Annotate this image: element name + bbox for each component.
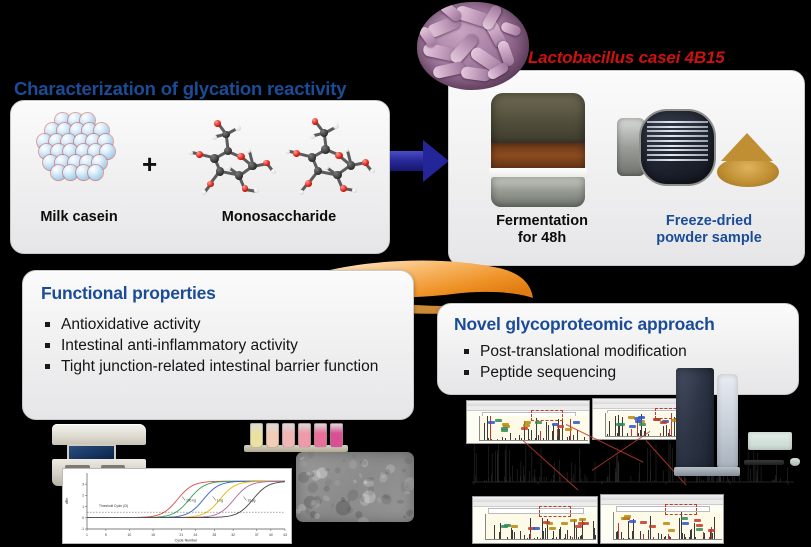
spectrum-peak (682, 533, 683, 539)
spectrum-peak (531, 430, 532, 440)
spectrum-peak (595, 535, 596, 539)
spectrum-peak (546, 422, 547, 439)
spectrum-peak (559, 429, 560, 439)
ion-annotation-label (682, 522, 689, 525)
heading-characterization: Characterization of glycation reactivity (14, 78, 346, 100)
atom-carbon (224, 147, 233, 156)
ion-annotation-label (629, 520, 636, 523)
atom-hydrogen (299, 190, 304, 195)
spectrum-peak (578, 537, 579, 540)
atom-hydrogen (324, 165, 329, 170)
spectrum-peak (553, 531, 554, 539)
spectrum-peak (552, 538, 553, 539)
qpcr-chart-svg: 15101521242832374043-10123Threshold Cycl… (63, 469, 291, 543)
heading-strain-name: Lactobacillus casei 4B15 (528, 48, 724, 68)
bullet-square-icon (464, 349, 469, 354)
label-fermentation-l1: Fermentation (496, 213, 588, 229)
ion-annotation-label (521, 427, 528, 430)
ion-annotation-label (579, 518, 586, 521)
jar-headspace (491, 93, 585, 145)
ion-annotation-label (578, 522, 585, 525)
x-tick-label: 24 (194, 533, 198, 537)
casein-micelle-icon (33, 111, 125, 199)
spectrum-peak (669, 536, 670, 539)
list-item: Antioxidative activity (45, 315, 397, 335)
bacteria-sem-icon (417, 2, 529, 90)
atom-carbon (222, 131, 230, 139)
spectrum-peak (520, 531, 521, 540)
micrograph-feature (349, 460, 358, 470)
spectrum-peak (553, 424, 554, 439)
spectrum-peak (660, 433, 661, 435)
bullet-square-icon (464, 370, 469, 375)
atom-oxygen (362, 159, 369, 166)
ion-annotation-label (575, 525, 582, 528)
list-item: Tight junction-related intestinal barrie… (45, 357, 397, 377)
micrograph-feature (405, 509, 414, 518)
spectrum-window-toolbar (467, 406, 589, 411)
list-item-label: Tight junction-related intestinal barrie… (61, 357, 397, 377)
micrograph-feature (322, 495, 331, 503)
freeze-dryer-icon (617, 109, 725, 187)
assay-tube (314, 423, 327, 448)
label-fermentation: Fermentation for 48h (467, 213, 617, 247)
spectrum-peak (619, 425, 620, 435)
ion-annotation-label (535, 421, 542, 424)
atom-carbon (308, 153, 317, 162)
ion-annotation-label (708, 529, 715, 532)
label-freeze-dried: Freeze-dried powder sample (625, 213, 793, 247)
micrograph-feature (299, 460, 307, 467)
atom-carbon (320, 129, 328, 137)
assay-tube (298, 423, 311, 448)
glycoproteomic-title: Novel glycoproteomic approach (454, 314, 715, 335)
ion-annotation-label (495, 419, 502, 422)
micrograph-feature (305, 480, 319, 494)
spectrum-peak (650, 538, 651, 539)
x-tick-label: 40 (269, 533, 273, 537)
ion-annotation-label (635, 420, 642, 423)
spectrum-peak (663, 426, 664, 436)
ms-instrument-base (674, 467, 741, 476)
spectrum-peak (584, 437, 585, 440)
ion-annotation-label (561, 522, 568, 525)
spectrum-peak (690, 538, 691, 539)
curve-annotation-label: 10 pg (247, 499, 255, 503)
functional-properties-panel: Functional properties Antioxidative acti… (22, 270, 414, 420)
ion-annotation-label (557, 425, 564, 428)
atom-oxygen (237, 153, 245, 161)
assay-tube (330, 423, 343, 448)
spectrum-peak (484, 432, 485, 440)
x-tick-label: 32 (231, 533, 235, 537)
bullet-square-icon (45, 343, 50, 348)
ion-annotation-label (663, 522, 670, 525)
ion-annotation-label (628, 416, 635, 419)
x-tick-label: 21 (179, 533, 183, 537)
list-item: Intestinal anti-inflammatory activity (45, 336, 397, 356)
label-fermentation-l2: for 48h (518, 230, 566, 246)
spectrum-peak (685, 537, 686, 539)
assay-tube-rack-icon (244, 418, 348, 452)
spectrum-peak (623, 538, 624, 540)
mass-spectra-screenshots-3 (472, 496, 598, 544)
spectrum-peak (567, 530, 568, 540)
spectrum-peak (638, 433, 639, 436)
dryer-shelf (647, 159, 709, 161)
spectrum-peak (529, 439, 530, 440)
spectrum-plot-area (613, 512, 721, 540)
atom-hydrogen (333, 123, 339, 129)
ion-annotation-label (533, 527, 540, 530)
powder-pile-icon (717, 157, 779, 187)
spectrum-peak (694, 523, 695, 540)
reaction-panel: + Milk casein Monosaccharide (10, 100, 390, 254)
spectrum-peak (535, 438, 536, 439)
micrograph-feature (352, 479, 357, 484)
atom-carbon (216, 167, 225, 176)
spectrum-peak (540, 431, 541, 439)
x-axis-title: Cycle Number (175, 539, 199, 543)
spectrum-peak (545, 528, 546, 540)
spectrum-peak (576, 528, 577, 539)
mass-spectrometer-icon (676, 368, 738, 470)
list-item-label: Intestinal anti-inflammatory activity (61, 336, 397, 356)
spectrum-peak (665, 536, 666, 539)
spectrum-peak (669, 429, 670, 436)
chart-background (63, 469, 291, 543)
spectrum-peak (491, 439, 492, 440)
ion-annotation-label (668, 529, 675, 532)
micrograph-feature (384, 468, 391, 475)
spectrum-peak (618, 523, 619, 540)
micrograph-feature (358, 472, 363, 478)
spectrum-peak (648, 530, 649, 539)
dryer-shelf (647, 130, 709, 132)
mass-spectra-screenshots (466, 400, 590, 444)
spectrum-peak (627, 433, 628, 436)
atom-hydrogen (352, 188, 357, 193)
spectrum-peak (565, 534, 566, 539)
atom-hydrogen (310, 134, 315, 139)
micrograph-feature (361, 459, 368, 468)
ms-workstation-keyboard (748, 432, 792, 450)
spectrum-peak (622, 417, 623, 436)
spectrum-peak (594, 528, 595, 539)
spectrum-peak (488, 438, 489, 439)
ion-annotation-label (501, 525, 508, 528)
spectrum-peak (574, 519, 575, 539)
ion-annotation-label (543, 521, 550, 524)
y-tick-label: 3 (82, 482, 84, 486)
spectrum-peak (648, 434, 649, 435)
functional-properties-title: Functional properties (41, 283, 216, 304)
micrograph-feature (324, 468, 330, 472)
spectrum-peak (537, 537, 538, 539)
ion-annotation-label (638, 416, 645, 419)
y-tick-label: 0 (82, 516, 84, 520)
dryer-shelf (647, 145, 709, 147)
atom-carbon (347, 161, 356, 170)
assay-tube (282, 423, 295, 448)
casein-subunit (88, 165, 103, 180)
spectrum-peak (524, 535, 525, 539)
x-tick-label: 15 (151, 533, 155, 537)
x-tick-label: 10 (128, 533, 132, 537)
spectrum-peak (558, 419, 559, 440)
spectrum-peak (499, 532, 500, 540)
ion-annotation-label (696, 528, 703, 531)
y-axis-title: dRn (65, 498, 69, 505)
x-tick-label: 28 (212, 533, 216, 537)
spectrum-peak (497, 439, 498, 440)
micrograph-feature (341, 458, 346, 463)
spectrum-peak (661, 534, 662, 539)
label-milk-casein: Milk casein (19, 209, 139, 226)
micrograph-feature (404, 491, 410, 495)
spectrum-plot-area (485, 514, 595, 541)
label-monosaccharide: Monosaccharide (179, 209, 379, 226)
ion-annotation-label (488, 421, 495, 424)
spectrum-peak (494, 525, 495, 539)
atom-carbon (248, 162, 257, 171)
micrograph-feature (352, 454, 357, 459)
x-tick-label: 1 (86, 533, 88, 537)
atom-hydrogen (285, 149, 290, 154)
spectrum-peak (556, 537, 557, 539)
spectrum-peak (643, 534, 644, 539)
list-item: Post-translational modification (464, 342, 784, 362)
micrograph-feature (360, 494, 370, 506)
spectrum-peak (490, 416, 491, 440)
ms-instrument-side-panel (717, 374, 738, 468)
atom-oxygen (340, 185, 347, 192)
powder-pile-peak (721, 133, 773, 161)
atom-oxygen (196, 151, 203, 158)
dryer-shelf (647, 140, 709, 142)
highlight-box (665, 504, 697, 515)
spectrum-peak (510, 433, 511, 440)
atom-oxygen (214, 120, 221, 127)
dryer-shelf (647, 126, 709, 128)
dryer-chamber (641, 111, 714, 184)
ion-annotation-label (629, 425, 636, 428)
micrograph-feature (376, 497, 382, 503)
micrograph-feature (334, 467, 342, 474)
spectrum-peak (548, 425, 549, 439)
micrograph-feature (334, 479, 341, 486)
x-tick-label: 37 (255, 533, 259, 537)
spectrum-peak (616, 532, 617, 539)
spectrum-peak (538, 435, 539, 440)
jar-liquid (491, 143, 585, 170)
y-tick-label: 2 (82, 494, 84, 498)
micrograph-feature (306, 452, 315, 460)
ion-annotation-label (694, 519, 701, 522)
bullet-square-icon (45, 364, 50, 369)
y-tick-label: 1 (82, 505, 84, 509)
label-freeze-dried-l2: powder sample (656, 230, 762, 246)
pcr-lid (52, 424, 146, 445)
qpcr-amplification-chart: 15101521242832374043-10123Threshold Cycl… (62, 468, 292, 544)
list-item-label: Peptide sequencing (480, 363, 784, 383)
monosaccharide-molecule-icon-2 (283, 107, 379, 201)
micrograph-feature (313, 512, 321, 520)
ion-annotation-label (511, 525, 518, 528)
spectrum-peak (570, 536, 571, 539)
spectrum-peak (515, 438, 516, 440)
atom-hydrogen (235, 125, 241, 131)
atom-hydrogen (370, 169, 375, 174)
spectrum-peak (653, 537, 654, 539)
ion-annotation-label (639, 423, 646, 426)
micrograph-feature (345, 506, 355, 516)
x-tick-label: 5 (105, 533, 107, 537)
micrograph-feature (368, 485, 374, 496)
x-tick-label: 43 (283, 533, 287, 537)
ms-workstation-mouse (790, 458, 800, 466)
spectrum-peak (528, 429, 529, 439)
spectrum-peak (560, 527, 561, 539)
spectrum-peak (502, 437, 503, 439)
arrow-body (390, 151, 426, 171)
ion-annotation-label (660, 421, 667, 424)
spectrum-peak (609, 421, 610, 435)
atom-hydrogen (212, 135, 217, 140)
spectrum-peak (703, 537, 704, 539)
spectrum-peak (581, 535, 582, 539)
spectrum-peak (714, 517, 715, 539)
ion-annotation-label (565, 428, 572, 431)
ms-instrument-body (676, 368, 714, 470)
micrograph-feature (397, 500, 404, 504)
spectrum-peak (695, 537, 696, 539)
arrow-head (423, 140, 449, 182)
spectrum-peak (631, 429, 632, 436)
ion-annotation-label (621, 517, 628, 520)
atom-carbon (314, 167, 323, 176)
y-tick-label: -1 (81, 527, 84, 531)
atom-hydrogen (202, 190, 207, 195)
spectrum-peak (640, 531, 641, 539)
micrograph-feature (323, 485, 331, 493)
spectrum-peak (658, 533, 659, 539)
graphical-abstract: Characterization of glycation reactivity… (0, 0, 811, 547)
spectrum-window-toolbar (601, 500, 723, 505)
spectrum-peak (519, 435, 520, 439)
ion-annotation-label (573, 421, 580, 424)
spectrum-peak (628, 521, 629, 539)
spectrum-window-toolbar (473, 502, 597, 507)
jar-base (491, 177, 585, 207)
bacterium-rod (481, 3, 504, 31)
dryer-shelf (647, 135, 709, 137)
cell-micrograph-image (296, 452, 414, 522)
process-arrow (390, 140, 452, 182)
spectrum-peak (670, 537, 671, 539)
spectrum-peak (527, 538, 528, 539)
atom-carbon (210, 154, 219, 163)
assay-tube (250, 423, 263, 448)
spectrum-peak (512, 530, 513, 539)
highlight-box (539, 506, 571, 517)
micrograph-feature (401, 468, 406, 473)
atom-oxygen (293, 150, 300, 157)
micrograph-feature (403, 515, 407, 519)
dryer-shelf (647, 149, 709, 151)
fermentation-jar-icon (491, 93, 585, 207)
spectrum-peak (562, 421, 563, 440)
spectrum-peak (543, 438, 544, 439)
curve-annotation-label: 100 ng (186, 499, 196, 503)
ion-annotation-label (696, 524, 703, 527)
ms-workstation-desk-edge (744, 460, 784, 465)
spectrum-peak (534, 538, 535, 539)
spectrum-peak (650, 516, 651, 539)
spectrum-peak (640, 430, 641, 436)
fermentation-panel: Fermentation for 48h Freeze-dried powder… (448, 70, 805, 266)
ion-annotation-label (640, 521, 647, 524)
spectrum-peak (487, 416, 488, 439)
spectrum-peak (505, 438, 506, 439)
micrograph-feature (330, 503, 335, 509)
dryer-shelf (647, 121, 709, 123)
label-freeze-dried-l1: Freeze-dried (666, 213, 752, 229)
plus-operator: + (142, 149, 157, 180)
mass-spectra-screenshots-4 (600, 494, 724, 544)
micrograph-feature (341, 497, 346, 502)
ion-annotation-label (570, 519, 577, 522)
ion-annotation-label (501, 427, 508, 430)
threshold-label: Threshold Cycle (Ct) (99, 504, 128, 508)
ion-annotation-label (549, 527, 556, 530)
monosaccharide-molecule-icon (186, 109, 282, 201)
spectrum-peak (540, 538, 541, 540)
highlight-box (531, 410, 563, 421)
atom-oxygen (305, 180, 312, 187)
atom-carbon (321, 145, 330, 154)
functional-properties-list: Antioxidative activity Intestinal anti-i… (45, 315, 397, 378)
spectrum-peak (529, 534, 530, 540)
spectrum-peak (607, 434, 608, 435)
assay-tube (266, 423, 279, 448)
atom-oxygen (207, 181, 214, 188)
list-item-label: Post-translational modification (480, 342, 784, 362)
ion-annotation-label (618, 423, 625, 426)
ion-annotation-label (681, 517, 688, 520)
atom-hydrogen (271, 169, 276, 174)
micrograph-feature (403, 456, 413, 465)
spectrum-peak (573, 435, 574, 439)
bullet-square-icon (45, 322, 50, 327)
ion-annotation-label (649, 525, 656, 528)
glycoproteomic-panel: Novel glycoproteomic approach Post-trans… (437, 303, 799, 395)
atom-hydrogen (254, 188, 259, 193)
spectrum-peak (507, 537, 508, 539)
atom-carbon (333, 171, 342, 180)
curve-annotation-label: 1 ng (217, 499, 223, 503)
list-item-label: Antioxidative activity (61, 315, 397, 335)
dryer-shelf (647, 154, 709, 156)
spectrum-peak (514, 532, 515, 539)
spectrum-peak (629, 538, 630, 539)
spectrum-peak (582, 535, 583, 540)
